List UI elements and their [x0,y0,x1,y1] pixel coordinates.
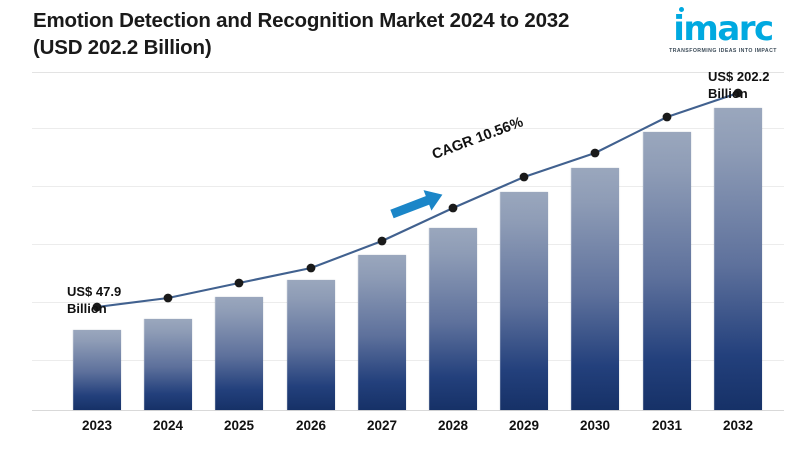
x-axis-label-2028: 2028 [418,418,488,433]
bar-2028[interactable] [429,228,477,410]
x-axis-label-2030: 2030 [560,418,630,433]
bar-2026[interactable] [287,280,335,410]
marker-2031 [663,113,672,122]
start-value-line-2: Billion [67,301,107,316]
end-value-callout: US$ 202.2 Billion [708,68,800,102]
gridline-5 [32,128,784,129]
bar-2023[interactable] [73,330,121,410]
marker-2026 [307,264,316,273]
x-axis-label-2023: 2023 [62,418,132,433]
start-value-callout: US$ 47.9 Billion [67,283,157,317]
bar-2030[interactable] [571,168,619,410]
x-axis-line [32,410,784,411]
bar-2029[interactable] [500,192,548,410]
bar-2024[interactable] [144,319,192,410]
end-value-line-2: Billion [708,86,748,101]
start-value-line-1: US$ 47.9 [67,284,121,299]
trend-line [97,93,738,307]
x-axis-label-2027: 2027 [347,418,417,433]
marker-2028 [449,204,458,213]
chart-canvas: Emotion Detection and Recognition Market… [0,0,800,450]
bar-2027[interactable] [358,255,406,410]
cagr-label: CAGR 10.56% [430,114,525,163]
x-axis-label-2025: 2025 [204,418,274,433]
growth-arrow-icon [388,184,446,224]
bar-2025[interactable] [215,297,263,410]
marker-2029 [520,173,529,182]
x-axis-label-2029: 2029 [489,418,559,433]
marker-2030 [591,149,600,158]
x-axis-label-2032: 2032 [703,418,773,433]
plot-area: US$ 47.9 Billion US$ 202.2 Billion CAGR … [0,0,800,450]
end-value-line-1: US$ 202.2 [708,69,769,84]
x-axis-label-2026: 2026 [276,418,346,433]
bar-2031[interactable] [643,132,691,410]
x-axis-label-2031: 2031 [632,418,702,433]
x-axis-label-2024: 2024 [133,418,203,433]
marker-2025 [235,279,244,288]
bar-2032[interactable] [714,108,762,410]
